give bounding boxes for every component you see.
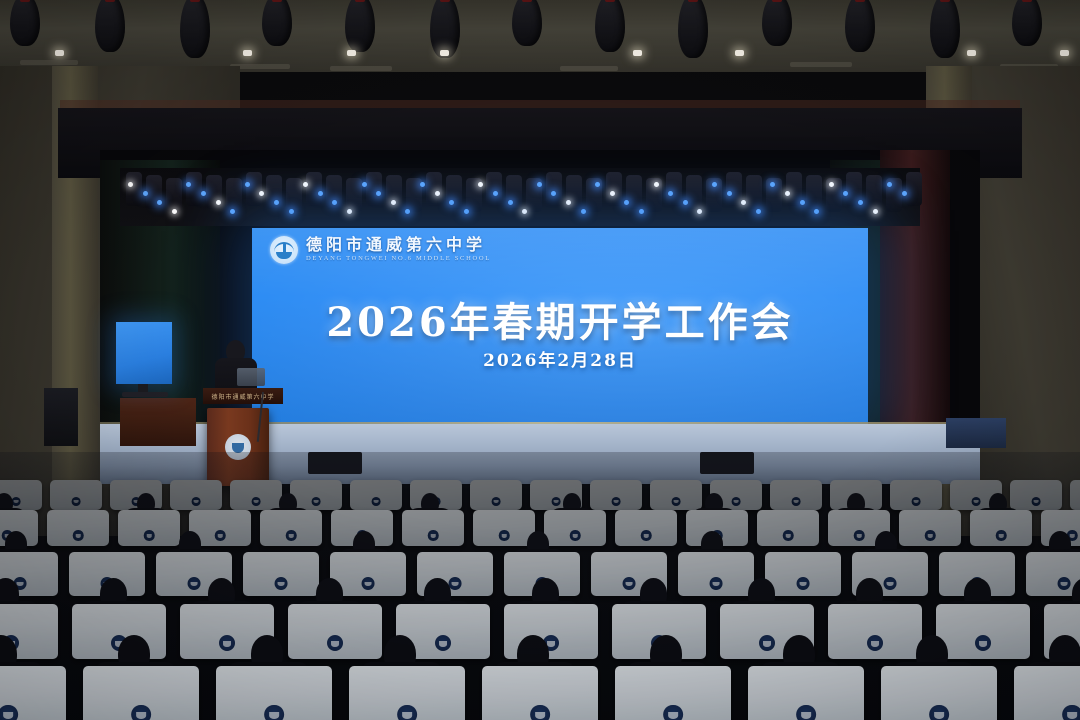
stage-lighting-truss <box>120 168 920 226</box>
truss-lamp <box>486 172 502 206</box>
school-emblem-icon <box>929 705 949 720</box>
truss-lamp <box>666 172 682 206</box>
truss-lamp-highlight <box>610 191 615 196</box>
seat <box>1070 480 1080 510</box>
school-emblem-icon <box>854 530 865 541</box>
seat <box>615 666 731 720</box>
school-emblem-icon <box>73 530 84 541</box>
hanging-stage-light <box>1012 0 1042 46</box>
truss-lamp <box>306 172 322 206</box>
school-emblem-icon <box>362 577 375 590</box>
truss-lamp-highlight <box>800 200 805 205</box>
school-name-cn: 德阳市通威第六中学 <box>306 237 491 253</box>
truss-lamp-highlight <box>259 191 264 196</box>
truss-lamp <box>606 172 622 206</box>
led-presentation-screen: 德阳市通威第六中学 DEYANG TONGWEI NO.6 MIDDLE SCH… <box>252 228 868 424</box>
recessed-downlight <box>243 50 252 56</box>
seat <box>230 480 282 510</box>
hanging-stage-light <box>10 0 40 46</box>
school-emblem-icon <box>131 705 151 720</box>
seat <box>650 480 702 510</box>
school-emblem-icon <box>552 497 561 506</box>
truss-lamp-highlight <box>318 191 323 196</box>
slide-date: 2026年2月28日 <box>252 346 868 371</box>
truss-lamp-highlight <box>128 182 133 187</box>
recessed-downlight <box>347 50 356 56</box>
truss-lamp-highlight <box>537 182 542 187</box>
pa-speaker-cabinet <box>44 388 78 446</box>
school-emblem-icon <box>1032 497 1041 506</box>
hanging-stage-light <box>512 0 542 46</box>
school-emblem-icon <box>796 705 816 720</box>
school-emblem-icon <box>783 530 794 541</box>
school-emblem-icon <box>912 497 921 506</box>
truss-lamp-highlight <box>201 191 206 196</box>
school-emblem-icon <box>144 530 155 541</box>
school-emblem-icon <box>264 705 284 720</box>
confidence-monitor <box>116 322 172 384</box>
school-emblem-icon <box>710 577 723 590</box>
truss-lamp-highlight <box>756 209 761 214</box>
seat <box>290 480 342 510</box>
school-emblem-icon <box>732 497 741 506</box>
audience-seating <box>0 452 1080 720</box>
truss-lamp-highlight <box>508 200 513 205</box>
school-emblem-icon <box>530 705 550 720</box>
truss-lamp-highlight <box>712 182 717 187</box>
seat <box>757 510 819 546</box>
podium-banner-text: 德阳市通威第六中学 <box>211 392 274 401</box>
school-emblem-icon <box>72 497 81 506</box>
seat <box>243 552 319 596</box>
seat <box>47 510 109 546</box>
hanging-stage-light <box>678 0 708 58</box>
hanging-stage-light <box>95 0 125 52</box>
seat <box>288 604 382 659</box>
seat <box>470 480 522 510</box>
seat <box>765 552 841 596</box>
truss-lamp-highlight <box>420 182 425 187</box>
seat <box>402 510 464 546</box>
school-emblem-icon <box>996 530 1007 541</box>
school-name-block: 德阳市通威第六中学 DEYANG TONGWEI NO.6 MIDDLE SCH… <box>306 237 491 263</box>
presenter-laptop <box>237 368 265 386</box>
truss-lamp-highlight <box>435 191 440 196</box>
hanging-stage-light <box>345 0 375 52</box>
stage-right-prop <box>946 418 1006 448</box>
seat <box>590 480 642 510</box>
school-emblem-icon <box>612 497 621 506</box>
seat <box>970 510 1032 546</box>
school-emblem-icon <box>12 497 21 506</box>
truss-lamp <box>166 178 182 212</box>
truss-lamp <box>366 172 382 206</box>
monitor-base <box>122 392 168 397</box>
truss-lamp-highlight <box>697 209 702 214</box>
seat <box>899 510 961 546</box>
seat <box>350 480 402 510</box>
crest-arc <box>274 242 294 254</box>
school-emblem-icon <box>672 497 681 506</box>
truss-lamp-highlight <box>639 209 644 214</box>
truss-lamp-highlight <box>727 191 732 196</box>
seat <box>1014 666 1080 720</box>
truss-lamp-highlight <box>405 209 410 214</box>
truss-lamp-highlight <box>274 200 279 205</box>
truss-lamp <box>246 172 262 206</box>
truss-lamp-highlight <box>654 182 659 187</box>
truss-lamp-highlight <box>902 191 907 196</box>
recessed-downlight <box>633 50 642 56</box>
school-emblem-icon <box>219 635 235 651</box>
school-emblem-icon <box>641 530 652 541</box>
seat <box>770 480 822 510</box>
truss-lamp <box>426 172 442 206</box>
school-emblem-icon <box>275 577 288 590</box>
school-emblem-icon <box>663 705 683 720</box>
seat <box>473 510 535 546</box>
truss-lamp-highlight <box>858 200 863 205</box>
school-emblem-icon <box>975 635 991 651</box>
seat <box>1010 480 1062 510</box>
school-emblem-icon <box>188 577 201 590</box>
seat <box>170 480 222 510</box>
truss-lamp-highlight <box>566 200 571 205</box>
school-emblem-icon <box>428 530 439 541</box>
truss-lamp-highlight <box>289 209 294 214</box>
truss-lamp <box>286 178 302 212</box>
ceiling-panel <box>20 60 78 65</box>
school-emblem-icon <box>286 530 297 541</box>
slide-title: 2026年春期开学工作会 <box>252 290 868 348</box>
school-emblem-icon <box>623 577 636 590</box>
school-emblem-icon <box>972 497 981 506</box>
truss-lamp <box>126 172 142 206</box>
school-emblem-icon <box>435 635 451 651</box>
truss-lamp-highlight <box>230 209 235 214</box>
truss-lamp-highlight <box>683 200 688 205</box>
truss-lamp-highlight <box>143 191 148 196</box>
seat <box>50 480 102 510</box>
school-emblem-icon <box>759 635 775 651</box>
seat <box>890 480 942 510</box>
school-emblem-icon <box>884 577 897 590</box>
school-emblem-icon <box>0 705 18 720</box>
hanging-stage-light <box>262 0 292 46</box>
truss-lamp <box>746 175 762 209</box>
auditorium-photo: 德阳市通威第六中学 DEYANG TONGWEI NO.6 MIDDLE SCH… <box>0 0 1080 720</box>
school-emblem-icon <box>252 497 261 506</box>
hanging-stage-light <box>180 0 210 58</box>
school-emblem-icon <box>372 497 381 506</box>
truss-lamp-highlight <box>814 209 819 214</box>
truss-lamp-highlight <box>785 191 790 196</box>
seat <box>83 666 199 720</box>
truss-lamp-highlight <box>216 200 221 205</box>
seat <box>748 666 864 720</box>
truss-lamp-highlight <box>347 209 352 214</box>
ceiling-panel <box>790 62 852 67</box>
school-emblem-icon <box>449 577 462 590</box>
school-emblem-icon <box>570 530 581 541</box>
seat <box>881 666 997 720</box>
school-emblem-icon <box>499 530 510 541</box>
recessed-downlight <box>440 50 449 56</box>
truss-lamp-highlight <box>245 182 250 187</box>
school-crest-icon <box>270 236 298 264</box>
truss-lamp <box>446 175 462 209</box>
podium-banner: 德阳市通威第六中学 <box>203 388 283 404</box>
school-emblem-icon <box>1062 705 1080 720</box>
screen-school-header: 德阳市通威第六中学 DEYANG TONGWEI NO.6 MIDDLE SCH… <box>270 236 491 264</box>
truss-lamp <box>806 175 822 209</box>
truss-lamp <box>686 175 702 209</box>
truss-lamp <box>226 178 242 212</box>
seat <box>544 510 606 546</box>
seat <box>482 666 598 720</box>
truss-lamp <box>726 172 742 206</box>
school-emblem-icon <box>492 497 501 506</box>
seat <box>0 666 66 720</box>
truss-lamp-highlight <box>172 209 177 214</box>
school-emblem-icon <box>925 530 936 541</box>
truss-lamp <box>866 175 882 209</box>
truss-lamp-highlight <box>829 182 834 187</box>
recessed-downlight <box>735 50 744 56</box>
seat <box>828 604 922 659</box>
hanging-stage-light <box>595 0 625 52</box>
recessed-downlight <box>55 50 64 56</box>
truss-lamp <box>346 178 362 212</box>
school-emblem-icon <box>215 530 226 541</box>
truss-lamp-highlight <box>873 209 878 214</box>
hanging-stage-light <box>762 0 792 46</box>
ceiling-panel <box>330 66 392 71</box>
truss-lamp-highlight <box>493 191 498 196</box>
hanging-stage-light <box>845 0 875 52</box>
school-emblem-icon <box>192 497 201 506</box>
school-emblem-icon <box>867 635 883 651</box>
recessed-downlight <box>967 50 976 56</box>
truss-lamp-highlight <box>581 209 586 214</box>
school-emblem-icon <box>797 577 810 590</box>
truss-lamp <box>906 172 922 206</box>
school-emblem-icon <box>1058 577 1071 590</box>
seat <box>216 666 332 720</box>
truss-lamp <box>546 172 562 206</box>
truss-lamp-highlight <box>464 209 469 214</box>
school-name-en: DEYANG TONGWEI NO.6 MIDDLE SCHOOL <box>306 256 491 263</box>
seat <box>615 510 677 546</box>
stage-side-table <box>120 398 196 446</box>
seat <box>260 510 322 546</box>
truss-lamp-highlight <box>362 182 367 187</box>
seat <box>349 666 465 720</box>
recessed-downlight <box>1060 50 1069 56</box>
truss-lamp-highlight <box>478 182 483 187</box>
school-emblem-icon <box>397 705 417 720</box>
seat <box>678 552 754 596</box>
truss-lamp-highlight <box>391 200 396 205</box>
truss-lamp-highlight <box>522 209 527 214</box>
ceiling-panel <box>560 66 618 71</box>
school-emblem-icon <box>312 497 321 506</box>
hanging-stage-light <box>930 0 960 58</box>
seat <box>118 510 180 546</box>
truss-lamp <box>186 172 202 206</box>
school-emblem-icon <box>792 497 801 506</box>
seat <box>936 604 1030 659</box>
school-emblem-icon <box>327 635 343 651</box>
